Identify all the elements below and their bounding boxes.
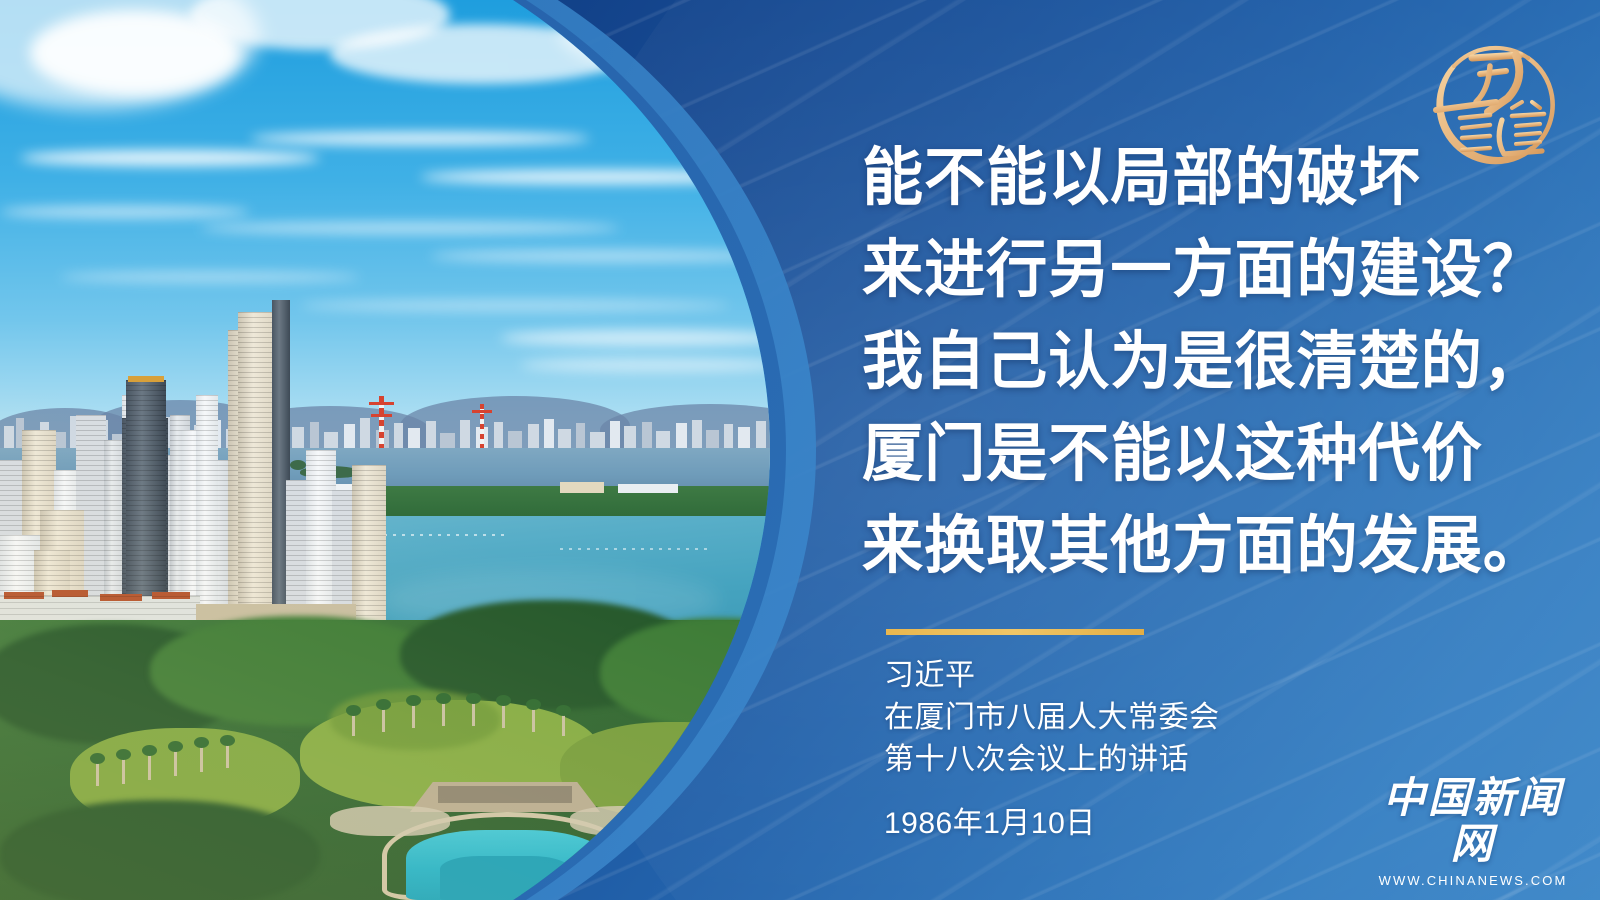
- cloud-streak: [250, 132, 590, 145]
- brand-name-cn: 中国新闻网: [1366, 776, 1580, 868]
- poster-root: 能不能以局部的破坏 来进行另一方面的建设？ 我自己认为是很清楚的， 厦门是不能以…: [0, 0, 1600, 900]
- garden-path: [330, 806, 450, 836]
- waterfront-building: [618, 484, 678, 493]
- palm-tree: [472, 700, 475, 726]
- gold-divider: [886, 629, 1144, 635]
- quote-line-4: 厦门是不能以这种代价: [862, 408, 1463, 500]
- cloud-streak: [430, 250, 770, 262]
- palm-tree: [226, 742, 229, 768]
- palm-tree: [96, 760, 99, 786]
- quote-text: 能不能以局部的破坏 来进行另一方面的建设？ 我自己认为是很清楚的， 厦门是不能以…: [862, 132, 1463, 592]
- fountain-pool-inner: [440, 856, 570, 900]
- palm-tree: [382, 706, 385, 732]
- tree-canopy: [0, 800, 320, 900]
- palm-tree: [174, 748, 177, 776]
- palm-tree: [352, 712, 355, 736]
- palm-tree: [442, 700, 445, 726]
- photo-clip-mask: [0, 0, 770, 900]
- attribution-speaker: 习近平: [884, 655, 1404, 697]
- attribution-date: 1986年1月10日: [884, 803, 1404, 845]
- chinanews-brand: 中国新闻网 WWW.CHINANEWS.COM: [1366, 776, 1580, 888]
- cloud-streak: [60, 272, 360, 282]
- palm-tree: [122, 756, 125, 784]
- cloud-streak: [500, 330, 770, 346]
- palm-tree: [532, 706, 535, 732]
- cloud-streak: [420, 170, 770, 184]
- cloud-streak: [20, 150, 320, 166]
- quote-line-2: 来进行另一方面的建设？: [862, 224, 1463, 316]
- cloud-streak: [520, 358, 770, 372]
- palm-tree: [148, 752, 151, 780]
- plaza-inlay: [438, 786, 572, 803]
- attribution-occasion-line-2: 第十八次会议上的讲话: [884, 739, 1404, 781]
- quote-line-1: 能不能以局部的破坏: [862, 132, 1463, 224]
- cloud-streak: [200, 222, 620, 234]
- quote-line-5: 来换取其他方面的发展。: [862, 500, 1463, 592]
- quote-line-3: 我自己认为是很清楚的，: [862, 316, 1463, 408]
- palm-tree: [502, 702, 505, 728]
- attribution-occasion-line-1: 在厦门市八届人大常委会: [884, 697, 1404, 739]
- brand-url: WWW.CHINANEWS.COM: [1366, 873, 1580, 888]
- palm-tree: [562, 712, 565, 736]
- palm-tree: [200, 744, 203, 772]
- transmission-tower-arm: [472, 410, 492, 413]
- palm-tree: [412, 702, 415, 728]
- city-buildings: [0, 300, 400, 630]
- buoy-line: [560, 548, 710, 550]
- cloud-streak: [0, 206, 250, 218]
- waterfront-building: [560, 482, 604, 493]
- garden-path: [570, 806, 690, 836]
- attribution-block: 习近平 在厦门市八届人大常委会 第十八次会议上的讲话 1986年1月10日: [884, 655, 1404, 845]
- cityscape-photo: [0, 0, 770, 900]
